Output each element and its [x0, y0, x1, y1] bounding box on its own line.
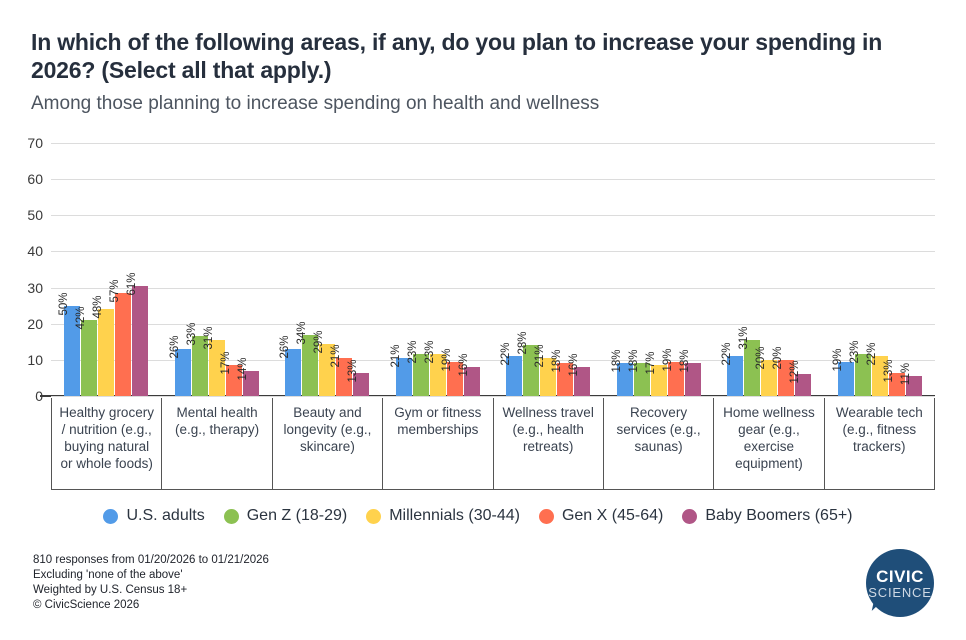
bar-value-label: 21% — [328, 345, 344, 368]
civicscience-logo: CIVIC SCIENCE — [866, 549, 938, 621]
legend-label: U.S. adults — [126, 507, 204, 525]
bar[interactable]: 57% — [115, 293, 131, 396]
footer-copyright: © CivicScience 2026 — [33, 598, 269, 613]
bar-value-label: 18% — [626, 350, 642, 373]
bar-group: 22%31%20%20%12% — [714, 143, 825, 396]
bar-value-label: 13% — [345, 359, 361, 382]
legend-item-2[interactable]: Gen Z (18-29) — [224, 507, 347, 525]
y-axis-tick-label: 20 — [27, 316, 43, 332]
category-label-2: Mental health (e.g., therapy) — [162, 398, 272, 489]
bar[interactable]: 19% — [838, 362, 854, 396]
plot-area: 01020304050607050%42%48%57%61%26%33%31%1… — [51, 143, 935, 396]
bar-value-label: 20% — [753, 346, 769, 369]
bar-value-label: 22% — [498, 343, 514, 366]
legend-swatch-icon — [224, 509, 239, 524]
y-axis-tick-label: 30 — [27, 280, 43, 296]
bar-value-label: 22% — [864, 343, 880, 366]
bar-rect[interactable] — [81, 320, 97, 396]
logo-science-text: SCIENCE — [866, 585, 934, 600]
bar-value-label: 14% — [235, 357, 251, 380]
bar-value-label: 42% — [73, 307, 89, 330]
chart-page: In which of the following areas, if any,… — [0, 0, 966, 640]
footer-notes: 810 responses from 01/20/2026 to 01/21/2… — [33, 553, 269, 613]
bar-group: 22%28%21%18%16% — [493, 143, 604, 396]
bar-value-label: 23% — [422, 341, 438, 364]
legend-label: Baby Boomers (65+) — [705, 507, 852, 525]
bar-value-label: 57% — [107, 279, 123, 302]
chart-legend: U.S. adultsGen Z (18-29)Millennials (30-… — [0, 507, 966, 525]
bar-value-label: 13% — [881, 359, 897, 382]
category-label-row: Healthy grocery / nutrition (e.g., buyin… — [51, 398, 935, 490]
bar-value-label: 18% — [549, 350, 565, 373]
bar[interactable]: 22% — [506, 356, 522, 396]
category-label-6: Recovery services (e.g., saunas) — [604, 398, 714, 489]
page-subtitle: Among those planning to increase spendin… — [31, 92, 911, 116]
legend-item-3[interactable]: Millennials (30-44) — [366, 507, 520, 525]
bar-value-label: 11% — [898, 363, 914, 385]
bar-group: 26%34%29%21%13% — [272, 143, 383, 396]
bar-value-label: 17% — [218, 352, 234, 375]
bar-group: 18%18%17%19%18% — [604, 143, 715, 396]
bar-value-label: 16% — [456, 354, 472, 377]
bar-value-label: 23% — [847, 341, 863, 364]
legend-swatch-icon — [103, 509, 118, 524]
legend-label: Millennials (30-44) — [389, 507, 520, 525]
bar-value-label: 29% — [311, 330, 327, 353]
bar-value-label: 21% — [388, 345, 404, 368]
category-label-8: Wearable tech (e.g., fitness trackers) — [825, 398, 934, 489]
bar-group: 19%23%22%13%11% — [825, 143, 936, 396]
y-axis-tick-label: 50 — [27, 207, 43, 223]
bar-value-label: 22% — [719, 343, 735, 366]
footer-weighting: Weighted by U.S. Census 18+ — [33, 583, 269, 598]
bar-value-label: 16% — [566, 354, 582, 377]
bar[interactable]: 16% — [464, 367, 480, 396]
bar[interactable]: 26% — [285, 349, 301, 396]
bar[interactable]: 61% — [132, 286, 148, 396]
bar-value-label: 23% — [405, 341, 421, 364]
bar-value-label: 18% — [677, 350, 693, 373]
legend-swatch-icon — [366, 509, 381, 524]
bar-value-label: 31% — [736, 326, 752, 349]
legend-swatch-icon — [682, 509, 697, 524]
category-label-4: Gym or fitness memberships — [383, 398, 493, 489]
legend-item-4[interactable]: Gen X (45-64) — [539, 507, 663, 525]
bar-value-label: 19% — [660, 348, 676, 371]
bar-rect[interactable] — [115, 293, 131, 396]
bar[interactable]: 13% — [353, 373, 369, 396]
bar-value-label: 28% — [515, 332, 531, 355]
legend-swatch-icon — [539, 509, 554, 524]
bar-value-label: 12% — [787, 361, 803, 384]
bar-value-label: 26% — [277, 336, 293, 359]
footer-excluding: Excluding 'none of the above' — [33, 568, 269, 583]
bar-rect[interactable] — [98, 309, 114, 396]
y-axis-tick-label: 40 — [27, 243, 43, 259]
bar[interactable]: 18% — [685, 363, 701, 396]
bar[interactable]: 16% — [574, 367, 590, 396]
bar-group: 21%23%23%19%16% — [383, 143, 494, 396]
bar-value-label: 34% — [294, 321, 310, 344]
logo-civic-text: CIVIC — [866, 567, 934, 587]
bar[interactable]: 22% — [727, 356, 743, 396]
gridline — [51, 396, 935, 397]
category-label-7: Home wellness gear (e.g., exercise equip… — [714, 398, 824, 489]
legend-item-5[interactable]: Baby Boomers (65+) — [682, 507, 852, 525]
bar[interactable]: 26% — [175, 349, 191, 396]
legend-label: Gen Z (18-29) — [247, 507, 347, 525]
bar-group: 50%42%48%57%61% — [51, 143, 162, 396]
bar[interactable]: 48% — [98, 309, 114, 396]
bar[interactable]: 11% — [906, 376, 922, 396]
y-axis-tick-label: 60 — [27, 171, 43, 187]
bar[interactable]: 21% — [396, 358, 412, 396]
y-axis-tick-label: 10 — [27, 352, 43, 368]
category-label-1: Healthy grocery / nutrition (e.g., buyin… — [52, 398, 162, 489]
bar-value-label: 48% — [90, 296, 106, 319]
bar-value-label: 19% — [830, 348, 846, 371]
bar[interactable]: 42% — [81, 320, 97, 396]
bar-value-label: 50% — [56, 292, 72, 315]
bar-value-label: 18% — [609, 350, 625, 373]
y-axis-tick-label: 70 — [27, 135, 43, 151]
category-label-3: Beauty and longevity (e.g., skincare) — [273, 398, 383, 489]
page-title: In which of the following areas, if any,… — [31, 28, 911, 84]
bar-value-label: 19% — [439, 348, 455, 371]
legend-item-1[interactable]: U.S. adults — [103, 507, 204, 525]
footer-responses: 810 responses from 01/20/2026 to 01/21/2… — [33, 553, 269, 568]
category-label-5: Wellness travel (e.g., health retreats) — [494, 398, 604, 489]
bar-value-label: 21% — [532, 345, 548, 368]
bar-value-label: 31% — [201, 326, 217, 349]
bar-value-label: 61% — [124, 272, 140, 295]
bar-value-label: 33% — [184, 323, 200, 346]
y-axis-tick-label: 0 — [35, 388, 43, 404]
bar-value-label: 17% — [643, 352, 659, 375]
bar-rect[interactable] — [132, 286, 148, 396]
bar-value-label: 26% — [167, 336, 183, 359]
legend-label: Gen X (45-64) — [562, 507, 663, 525]
bar-value-label: 20% — [770, 346, 786, 369]
bar[interactable]: 14% — [243, 371, 259, 396]
bar[interactable]: 12% — [795, 374, 811, 396]
bar-group: 26%33%31%17%14% — [162, 143, 273, 396]
